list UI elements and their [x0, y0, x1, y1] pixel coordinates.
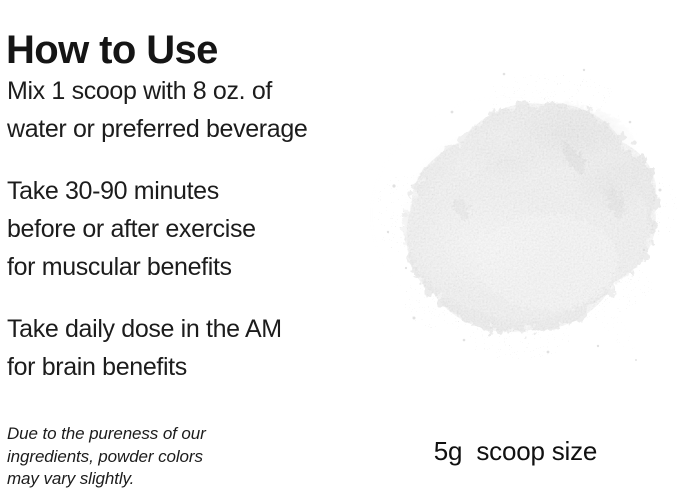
instruction-line: Take 30-90 minutes — [7, 172, 351, 210]
disclaimer-line: ingredients, powder colors — [7, 446, 237, 469]
scoop-size-label: 5g scoop size — [352, 436, 679, 467]
how-to-use-panel: How to Use Mix 1 scoop with 8 oz. of wat… — [0, 0, 679, 490]
instruction-line: Take daily dose in the AM — [7, 310, 351, 348]
powder-image — [352, 0, 679, 420]
powder-pile-illustration — [352, 0, 679, 420]
instruction-line: water or preferred beverage — [7, 110, 351, 148]
mix-instruction: Mix 1 scoop with 8 oz. of water or prefe… — [7, 72, 351, 148]
daily-dose-instruction: Take daily dose in the AM for brain bene… — [7, 310, 351, 386]
instruction-list: Mix 1 scoop with 8 oz. of water or prefe… — [7, 72, 351, 386]
instruction-line: for muscular benefits — [7, 248, 351, 286]
product-image-column: 5g scoop size — [352, 0, 679, 490]
color-variation-disclaimer: Due to the pureness of our ingredients, … — [7, 423, 237, 491]
instruction-line: before or after exercise — [7, 210, 351, 248]
instructions-column: How to Use Mix 1 scoop with 8 oz. of wat… — [6, 0, 352, 490]
disclaimer-line: Due to the pureness of our — [7, 423, 237, 446]
instruction-line: Mix 1 scoop with 8 oz. of — [7, 72, 351, 110]
timing-instruction: Take 30-90 minutes before or after exerc… — [7, 172, 351, 286]
disclaimer-line: may vary slightly. — [7, 468, 237, 491]
instruction-line: for brain benefits — [7, 348, 351, 386]
page-title: How to Use — [6, 25, 218, 75]
